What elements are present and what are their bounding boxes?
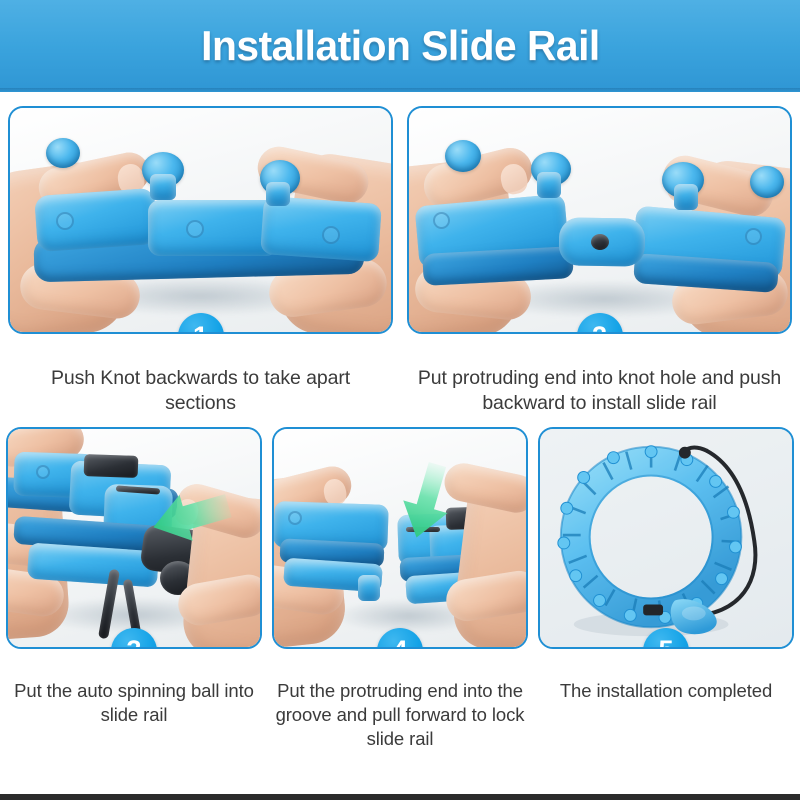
page-title: Installation Slide Rail <box>201 25 600 67</box>
step-4-caption: Put the protruding end into the groove a… <box>272 679 528 751</box>
photo-hands-take-apart-sections <box>10 108 391 332</box>
step-3-photo-panel: 3 <box>6 427 262 649</box>
step-5: 5 The installation completed <box>538 427 794 751</box>
completed-hoop-graphic <box>540 429 792 647</box>
installation-guide-poster: Installation Slide Rail <box>0 0 800 800</box>
step-3-caption: Put the auto spinning ball into slide ra… <box>6 679 262 727</box>
step-2: 2 Put protruding end into knot hole and … <box>407 106 792 417</box>
steps-row-top: 1 Push Knot backwards to take apart sect… <box>0 92 800 417</box>
photo-join-rail-segments <box>274 429 526 647</box>
step-1-photo-panel: 1 <box>8 106 393 334</box>
step-2-photo-panel: 2 <box>407 106 792 334</box>
step-5-photo-panel: 5 <box>538 427 794 649</box>
step-4-photo-panel: 4 <box>272 427 528 649</box>
step-3: 3 Put the auto spinning ball into slide … <box>6 427 262 751</box>
photo-insert-protruding-end <box>409 108 790 332</box>
step-1: 1 Push Knot backwards to take apart sect… <box>8 106 393 417</box>
bottom-edge-bar <box>0 794 800 800</box>
photo-completed-hoop <box>540 429 792 647</box>
steps-row-bottom: 3 Put the auto spinning ball into slide … <box>0 417 800 751</box>
green-arrow-down-icon <box>400 463 454 541</box>
step-5-caption: The installation completed <box>558 679 774 703</box>
step-1-caption: Push Knot backwards to take apart sectio… <box>8 366 393 417</box>
header-banner: Installation Slide Rail <box>0 0 800 92</box>
photo-attach-auto-spinning-ball <box>8 429 260 647</box>
green-arrow-left-icon <box>148 491 230 543</box>
step-4: 4 Put the protruding end into the groove… <box>272 427 528 751</box>
steps-body: 1 Push Knot backwards to take apart sect… <box>0 92 800 800</box>
step-2-caption: Put protruding end into knot hole and pu… <box>407 366 792 417</box>
